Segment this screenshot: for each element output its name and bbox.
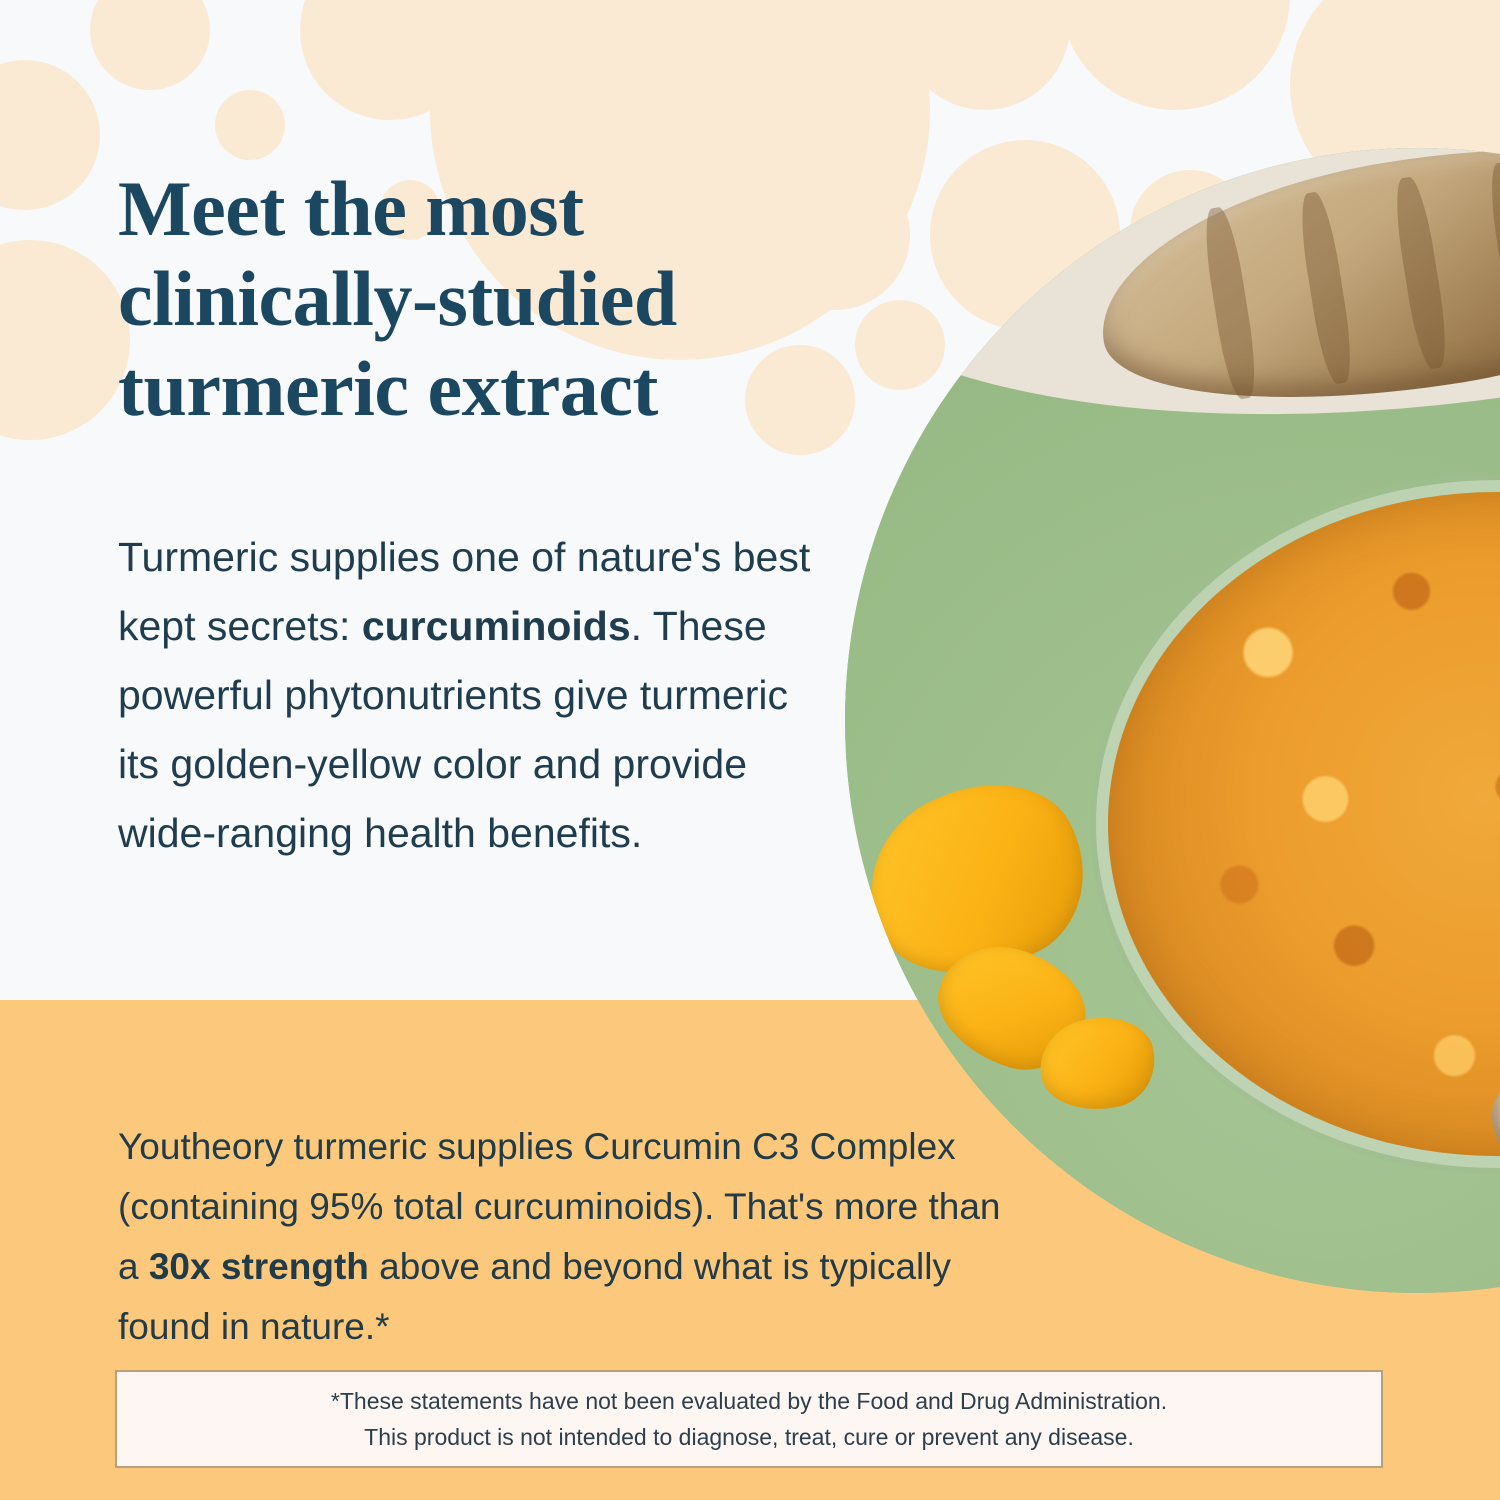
- decorative-bubble: [0, 240, 130, 440]
- headline-line-3: turmeric extract: [118, 345, 658, 432]
- decorative-bubble: [1060, 0, 1290, 110]
- disclaimer-line-1: *These statements have not been evaluate…: [331, 1386, 1167, 1416]
- decorative-bubble: [680, 40, 770, 130]
- orange-band-paragraph: Youtheory turmeric supplies Curcumin C3 …: [118, 1117, 1018, 1357]
- disclaimer-line-2: This product is not intended to diagnose…: [364, 1422, 1134, 1452]
- decorative-bubble: [215, 90, 285, 160]
- orange-emphasis-strength: 30x strength: [149, 1246, 369, 1287]
- body-emphasis-curcuminoids: curcuminoids: [362, 603, 631, 649]
- headline-line-2: clinically-studied: [118, 255, 677, 342]
- decorative-bubble: [0, 60, 100, 210]
- decorative-bubble: [90, 0, 210, 90]
- headline-line-1: Meet the most: [118, 165, 584, 252]
- page-title: Meet the most clinically-studied turmeri…: [118, 164, 918, 433]
- infographic-canvas: Meet the most clinically-studied turmeri…: [0, 0, 1500, 1500]
- body-paragraph: Turmeric supplies one of nature's best k…: [118, 523, 838, 867]
- fda-disclaimer-box: *These statements have not been evaluate…: [115, 1370, 1383, 1468]
